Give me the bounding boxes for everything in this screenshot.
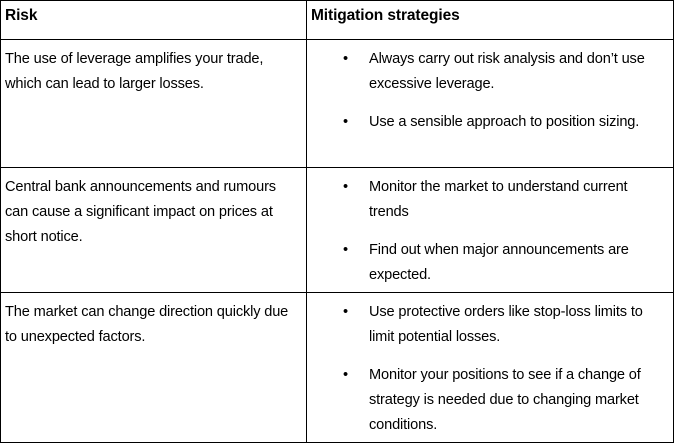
list-item-text: Always carry out risk analysis and don’t… <box>369 47 667 97</box>
mitigation-cell: • Use protective orders like stop-loss l… <box>307 293 674 443</box>
list-item-text: Monitor the market to understand current… <box>369 175 667 225</box>
mitigation-cell: • Monitor the market to understand curre… <box>307 168 674 293</box>
bullet-icon: • <box>343 238 353 263</box>
list-item: • Find out when major announcements are … <box>307 238 667 288</box>
bullet-icon: • <box>343 363 353 388</box>
bullet-icon: • <box>343 175 353 200</box>
risk-cell: The use of leverage amplifies your trade… <box>1 40 307 168</box>
mitigation-cell: • Always carry out risk analysis and don… <box>307 40 674 168</box>
table-row: Central bank announcements and rumours c… <box>1 168 674 293</box>
bullet-icon: • <box>343 110 353 135</box>
risk-mitigation-table: Risk Mitigation strategies The use of le… <box>0 0 674 443</box>
mitigation-list-wrapper: • Use protective orders like stop-loss l… <box>307 293 673 442</box>
column-header-mitigation-label: Mitigation strategies <box>307 1 673 26</box>
document-canvas: Risk Mitigation strategies The use of le… <box>0 0 685 441</box>
list-item-text: Monitor your positions to see if a chang… <box>369 363 667 438</box>
mitigation-list-wrapper: • Always carry out risk analysis and don… <box>307 40 673 139</box>
mitigation-list: • Monitor the market to understand curre… <box>307 175 667 288</box>
risk-description: Central bank announcements and rumours c… <box>1 168 306 254</box>
bullet-icon: • <box>343 300 353 325</box>
list-item: • Monitor your positions to see if a cha… <box>307 363 667 438</box>
column-header-risk: Risk <box>1 1 307 40</box>
risk-cell: Central bank announcements and rumours c… <box>1 168 307 293</box>
list-item: • Always carry out risk analysis and don… <box>307 47 667 97</box>
list-item: • Monitor the market to understand curre… <box>307 175 667 225</box>
column-header-risk-label: Risk <box>1 1 306 26</box>
risk-cell: The market can change direction quickly … <box>1 293 307 443</box>
table-header-row: Risk Mitigation strategies <box>1 1 674 40</box>
list-item: • Use a sensible approach to position si… <box>307 110 667 135</box>
mitigation-list: • Use protective orders like stop-loss l… <box>307 300 667 438</box>
mitigation-list: • Always carry out risk analysis and don… <box>307 47 667 135</box>
mitigation-list-wrapper: • Monitor the market to understand curre… <box>307 168 673 292</box>
list-item-text: Use a sensible approach to position sizi… <box>369 110 667 135</box>
list-item: • Use protective orders like stop-loss l… <box>307 300 667 350</box>
risk-description: The use of leverage amplifies your trade… <box>1 40 306 101</box>
risk-description: The market can change direction quickly … <box>1 293 306 354</box>
table-header: Risk Mitigation strategies <box>1 1 674 40</box>
table-body: The use of leverage amplifies your trade… <box>1 40 674 443</box>
bullet-icon: • <box>343 47 353 72</box>
table-row: The use of leverage amplifies your trade… <box>1 40 674 168</box>
list-item-text: Find out when major announcements are ex… <box>369 238 667 288</box>
column-header-mitigation: Mitigation strategies <box>307 1 674 40</box>
list-item-text: Use protective orders like stop-loss lim… <box>369 300 667 350</box>
table-row: The market can change direction quickly … <box>1 293 674 443</box>
